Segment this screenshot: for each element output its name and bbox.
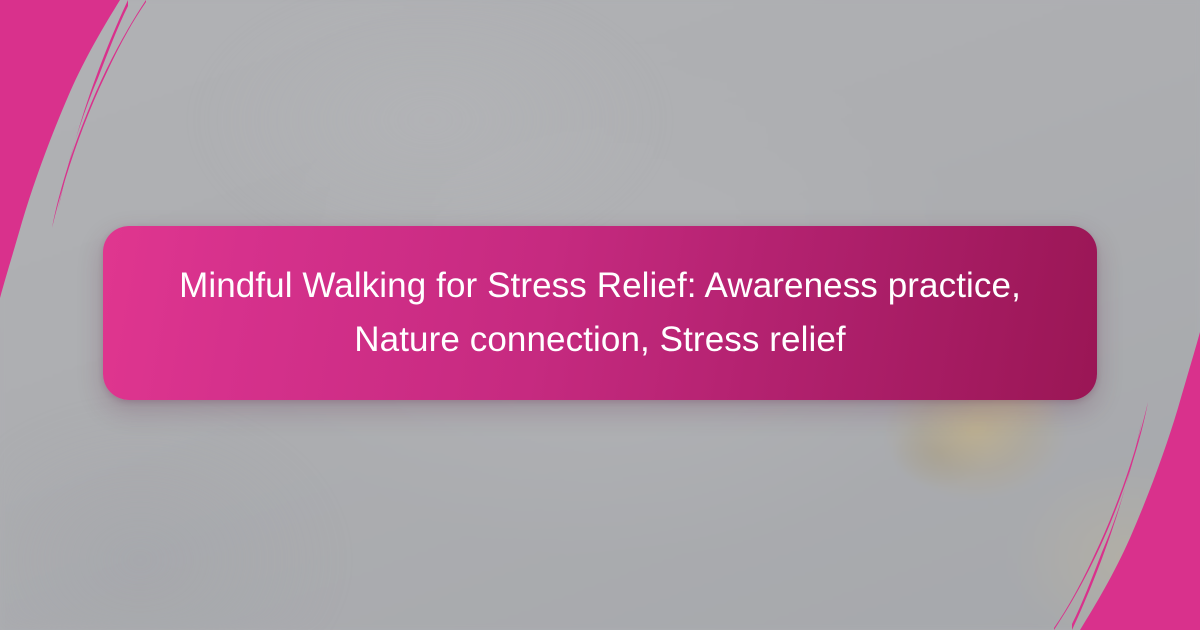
og-image-canvas: Mindful Walking for Stress Relief: Aware… <box>0 0 1200 630</box>
title-card: Mindful Walking for Stress Relief: Aware… <box>103 226 1097 400</box>
page-title: Mindful Walking for Stress Relief: Aware… <box>157 259 1043 366</box>
